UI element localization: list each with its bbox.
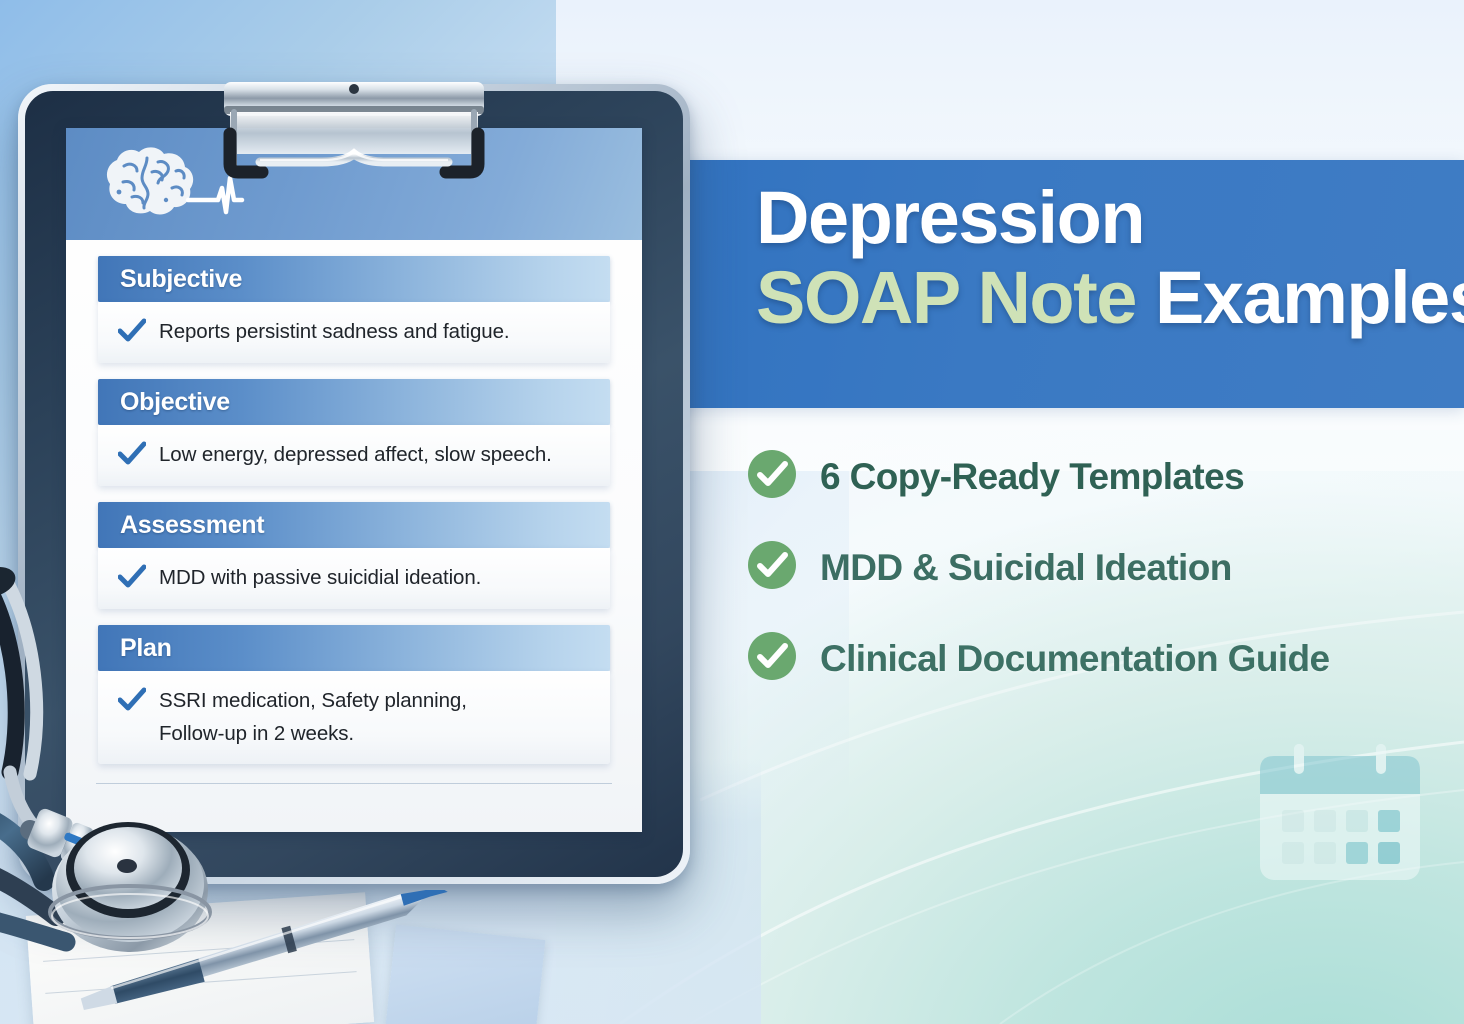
feature-bullet-label: MDD & Suicidal Ideation: [820, 547, 1232, 589]
pen-icon: [60, 890, 480, 1020]
soap-text-line: Low energy, depressed affect, slow speec…: [159, 438, 552, 471]
feature-bullet-item: 6 Copy-Ready Templates: [746, 448, 1434, 505]
check-icon: [118, 318, 146, 349]
soap-section-heading: Objective: [120, 388, 230, 417]
soap-section: ObjectiveLow energy, depressed affect, s…: [98, 379, 610, 486]
soap-section-text: Low energy, depressed affect, slow speec…: [159, 438, 552, 471]
feature-bullet-item: Clinical Documentation Guide: [746, 630, 1434, 687]
soap-section-header: Subjective: [98, 256, 610, 302]
calendar-icon: [1252, 740, 1428, 890]
page-title-line2: SOAP Note Examples: [756, 258, 1464, 338]
feature-bullet-label: Clinical Documentation Guide: [820, 638, 1329, 680]
page-title-rest: Examples: [1136, 256, 1464, 339]
soap-text-line: Reports persistint sadness and fatigue.: [159, 315, 510, 348]
soap-section-heading: Subjective: [120, 265, 242, 294]
feature-bullet-list: 6 Copy-Ready TemplatesMDD & Suicidal Ide…: [746, 448, 1434, 721]
feature-bullet-label: 6 Copy-Ready Templates: [820, 456, 1244, 498]
soap-section-body: Low energy, depressed affect, slow speec…: [98, 425, 610, 486]
page-title-line1: Depression: [756, 178, 1464, 258]
clipboard-clip-icon: [204, 76, 504, 184]
soap-section-header: Assessment: [98, 502, 610, 548]
soap-section-heading: Assessment: [120, 511, 264, 540]
check-circle-icon: [746, 539, 798, 596]
right-content-panel: Depression SOAP Note Examples 6 Copy-Rea…: [672, 0, 1464, 1024]
soap-section-text: Reports persistint sadness and fatigue.: [159, 315, 510, 348]
soap-section: SubjectiveReports persistint sadness and…: [98, 256, 610, 363]
check-icon: [118, 441, 146, 472]
feature-bullet-item: MDD & Suicidal Ideation: [746, 539, 1434, 596]
check-circle-icon: [746, 630, 798, 687]
title-banner: Depression SOAP Note Examples: [672, 160, 1464, 408]
page-title-accent: SOAP Note: [756, 256, 1136, 339]
check-circle-icon: [746, 448, 798, 505]
soap-section-body: Reports persistint sadness and fatigue.: [98, 302, 610, 363]
soap-section-header: Objective: [98, 379, 610, 425]
